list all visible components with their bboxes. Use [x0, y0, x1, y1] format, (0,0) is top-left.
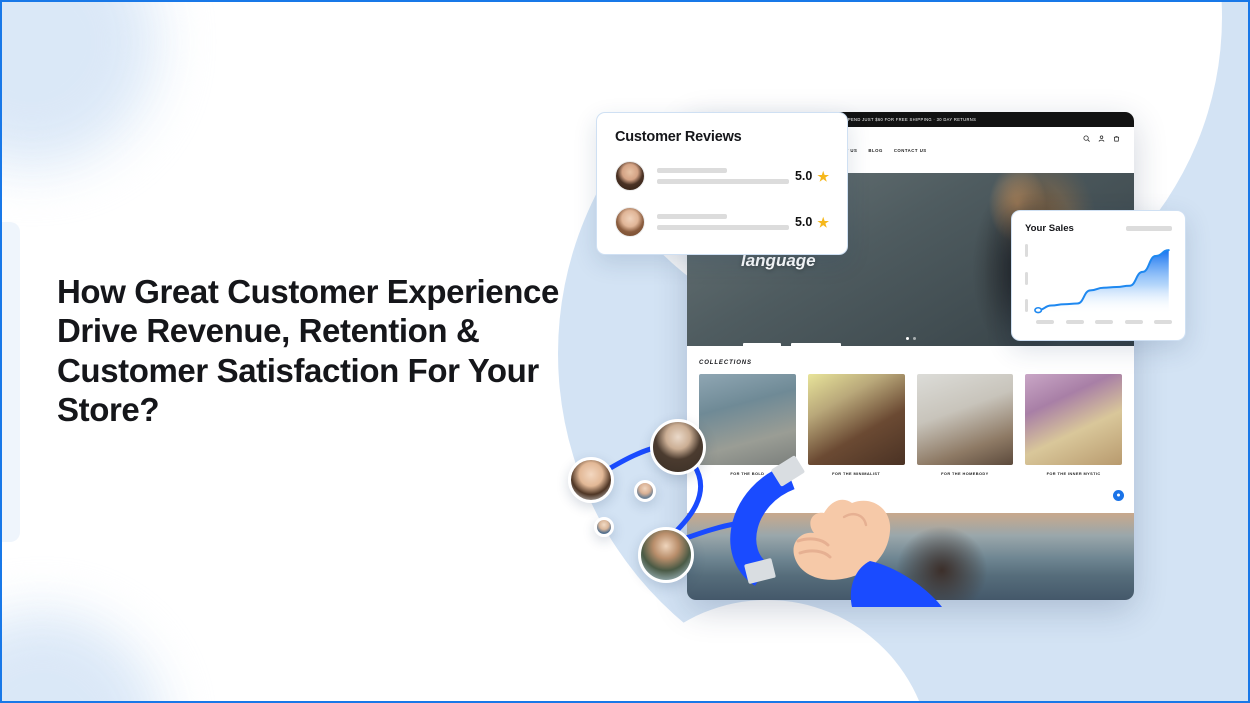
review-row: 5.0 ★: [615, 207, 829, 237]
x-tick: [1125, 320, 1143, 324]
collection-card-inner-mystic[interactable]: FOR THE INNER MYSTIC: [1025, 374, 1122, 476]
background-blob-top-left: [0, 0, 157, 167]
chart-x-axis-ticks: [1036, 320, 1172, 324]
y-tick: [1025, 299, 1028, 312]
collection-image-inner-mystic: [1025, 374, 1122, 465]
hero-buttons: SHOP TEES SHOP SWEATSHIRTS: [743, 343, 841, 346]
background-edge-accent: [2, 222, 20, 542]
your-sales-header: Your Sales: [1025, 223, 1172, 234]
customer-reviews-title: Customer Reviews: [615, 129, 829, 145]
shop-tees-button[interactable]: SHOP TEES: [743, 343, 781, 346]
y-tick: [1025, 272, 1028, 285]
collection-label-inner-mystic: FOR THE INNER MYSTIC: [1047, 471, 1101, 476]
nav-link-blog[interactable]: BLOG: [868, 148, 882, 153]
account-icon[interactable]: [1098, 135, 1105, 142]
collections-heading: COLLECTIONS: [699, 360, 1122, 366]
x-tick: [1154, 320, 1172, 324]
collection-image-minimalist: [808, 374, 905, 465]
review-rating: 5.0 ★: [795, 215, 829, 229]
review-row: 5.0 ★: [615, 161, 829, 191]
page-root: How Great Customer Experience Drive Reve…: [0, 0, 1250, 703]
chart-plot-area: [1036, 244, 1172, 314]
reviewer-avatar: [615, 161, 645, 191]
review-line-short: [657, 168, 727, 173]
carousel-dot-2[interactable]: [913, 337, 916, 340]
x-tick: [1066, 320, 1084, 324]
search-icon[interactable]: [1083, 135, 1090, 142]
review-score-value: 5.0: [795, 169, 812, 183]
cart-icon[interactable]: [1113, 135, 1120, 142]
sales-area-chart: [1036, 244, 1172, 314]
shop-sweatshirts-button[interactable]: SHOP SWEATSHIRTS: [791, 343, 841, 346]
star-icon: ★: [817, 216, 829, 229]
avatar-node-1[interactable]: [568, 457, 614, 503]
star-icon: ★: [817, 170, 829, 183]
your-sales-placeholder-bar: [1126, 226, 1172, 231]
carousel-dot-1[interactable]: [906, 337, 909, 340]
review-rating: 5.0 ★: [795, 169, 829, 183]
avatar-node-2[interactable]: [650, 419, 706, 475]
avatar-node-3[interactable]: [634, 480, 656, 502]
navbar-icons: [1083, 135, 1120, 142]
your-sales-card: Your Sales: [1011, 210, 1186, 341]
chart-start-marker: [1035, 308, 1042, 313]
review-placeholder-text: [657, 214, 795, 230]
nav-link-contact-us[interactable]: CONTACT US: [894, 148, 927, 153]
hero-carousel-dots[interactable]: [906, 337, 916, 340]
customer-reviews-card: Customer Reviews 5.0 ★ 5.0 ★: [596, 112, 848, 255]
x-tick: [1036, 320, 1054, 324]
review-score-value: 5.0: [795, 215, 812, 229]
review-line-long: [657, 225, 789, 230]
review-line-short: [657, 214, 727, 219]
y-tick: [1025, 244, 1028, 257]
magnet-illustration: [702, 457, 952, 607]
page-title: How Great Customer Experience Drive Reve…: [57, 272, 617, 429]
your-sales-title: Your Sales: [1025, 223, 1074, 234]
chart-y-axis-ticks: [1025, 244, 1028, 312]
accessibility-icon[interactable]: ●: [1113, 490, 1124, 501]
avatar-node-4[interactable]: [594, 517, 614, 537]
avatar-node-5[interactable]: [638, 527, 694, 583]
reviewer-avatar: [615, 207, 645, 237]
your-sales-chart: [1025, 244, 1172, 324]
collection-image-homebody: [917, 374, 1014, 465]
review-line-long: [657, 179, 789, 184]
hand-holding-magnet: [702, 457, 952, 607]
review-placeholder-text: [657, 168, 795, 184]
x-tick: [1095, 320, 1113, 324]
background-blob-bottom-left: [0, 612, 162, 703]
